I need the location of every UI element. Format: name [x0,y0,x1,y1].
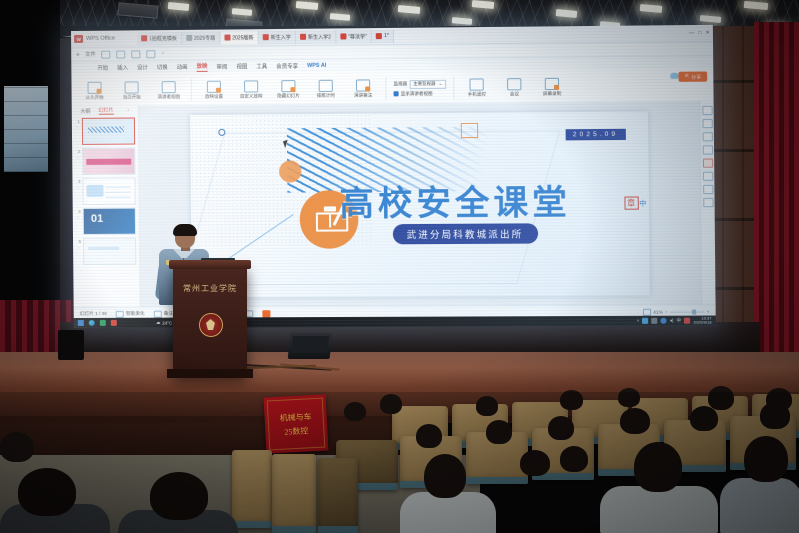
presenter-view-checkbox-label: 显示演讲者视图 [401,90,433,96]
save-icon[interactable] [102,50,111,58]
wps-logo-icon: W [74,35,83,43]
security-icon[interactable] [642,318,648,324]
play-current-icon [125,81,139,93]
document-tab[interactable]: 2025专题 [182,31,220,44]
slide-number: 3 [75,178,80,185]
slide-number: 4 [76,208,81,215]
from-beginning-button[interactable]: 从头开始 [79,81,109,100]
monitor-settings-group: 监视器 主要监视器⌄ 显示演讲者视图 [393,79,446,97]
document-tab-label: 新生入学 [271,33,291,40]
settings-icon [207,80,221,92]
slide-date-badge: 2025.09 [566,129,626,141]
zoom-level-label: 41% [653,309,663,314]
thumbnail-item[interactable]: 3 ☆ [75,178,135,205]
checkbox-checked-icon[interactable] [394,91,399,96]
ppt-file-icon [263,34,269,40]
stage-monitor-speaker [288,333,333,359]
slide-thumbnail-panel[interactable]: 大纲 幻灯片 ‹ 1 ☆ 2 ☆ [72,105,141,308]
document-tab-label: 2025版新 [232,34,253,41]
star-icon: ☆ [76,155,80,160]
zoom-track[interactable] [670,311,705,312]
right-curtain [754,22,799,367]
document-tab-label: 新生入学2 [308,33,331,40]
print-icon[interactable] [117,50,126,58]
close-icon[interactable]: ✕ [706,30,710,36]
star-icon: ☆ [76,185,80,190]
stage-reflection [0,352,799,388]
thumbnail-image[interactable] [82,178,135,205]
ppt-file-icon [141,35,147,41]
play-from-start-icon [87,81,101,93]
cloud-sync-icon[interactable] [670,73,678,79]
slideshow-settings-button[interactable]: 放映设置 [199,80,229,99]
wps-taskbar-icon[interactable] [111,320,117,326]
ppt-file-icon [340,33,346,39]
audience-shadow-overlay [0,392,799,533]
ppt-file-icon [300,34,306,40]
document-tab[interactable]: 1* [372,29,394,42]
shapes-panel-icon[interactable] [702,145,712,154]
document-tab-label: 2025专题 [194,34,215,41]
folder-icon[interactable] [651,318,657,324]
stage-speaker-box [58,330,84,360]
document-tab[interactable]: 1拍框克模板 [137,31,182,44]
custom-show-button[interactable]: 自定义放映 [236,80,266,99]
slide-number: 1 [75,118,80,125]
clock-widget[interactable]: 10:37 2025/9/18 [693,316,711,325]
fit-to-window-icon[interactable] [643,308,651,315]
thumbnail-list[interactable]: 1 ☆ 2 ☆ 3 [72,115,140,267]
small-circle-decoration [218,129,225,136]
meeting-button[interactable]: 会议 [499,78,530,97]
star-icon: ☆ [77,245,81,250]
materials-panel-icon[interactable] [702,159,712,168]
thumbnail-item[interactable]: 1 ☆ [75,118,135,145]
notes-icon [154,310,162,317]
help-panel-icon[interactable] [703,185,713,194]
from-current-slide-button[interactable]: 当页开始 [117,81,147,100]
podium-base [167,369,253,378]
zoom-in-icon[interactable]: + [707,309,710,314]
timer-icon [319,79,333,91]
cloud-panel-icon[interactable] [702,172,712,181]
ribbon-divider [453,77,454,99]
slide-number: 2 [75,148,80,155]
tab-slideshow[interactable]: 放映 [197,62,208,72]
tab-review[interactable]: 审阅 [216,63,227,71]
hamburger-icon[interactable]: ≡ [76,51,79,57]
presenter-hair [173,224,197,236]
ppt-file-icon [186,35,192,41]
document-tab-label: 1* [384,33,389,39]
small-stamp-mark: 中 [639,198,646,208]
zoom-slider[interactable]: 41% − + [643,308,710,315]
star-icon: ☆ [76,215,80,220]
speaker-notes-button[interactable]: 演讲备注 [348,79,379,98]
ribbon-divider [385,77,386,99]
record-icon [545,77,559,89]
notes-icon [356,79,370,91]
notes-button[interactable]: 备注 [154,310,174,317]
tab-animation[interactable]: 动画 [177,63,188,71]
thumbnail-item[interactable]: 5 ☆ [76,238,136,265]
tab-view[interactable]: 视图 [236,62,247,70]
tab-slides[interactable]: 幻灯片 [98,107,113,115]
settings-panel-icon[interactable] [703,198,713,207]
share-button[interactable]: ⇱分享 [679,71,707,81]
monitor-select-row[interactable]: 监视器 主要监视器⌄ [393,79,446,89]
document-tab-label: 1拍框克模板 [149,34,177,41]
window-controls[interactable]: — □ ✕ [685,30,710,36]
notification-icon[interactable] [684,318,690,324]
elements-panel-icon[interactable] [702,132,712,141]
screen-record-button[interactable]: 屏幕录制 [537,77,568,96]
school-crest-icon [199,313,223,337]
red-stamp-mark: 章 [624,196,638,209]
properties-panel-icon[interactable] [702,106,712,115]
redo-icon[interactable] [147,50,156,58]
document-tab-label: "尊法学" [348,33,367,40]
orange-square-decoration [460,123,477,138]
podium: 常州工业学院 [173,265,247,375]
collapse-panel-icon[interactable]: ‹ [127,108,129,114]
network-icon[interactable] [660,318,666,324]
weather-icon: ☁ [156,320,160,326]
thumbnail-image[interactable] [83,238,136,265]
app-name-label: WPS Office [86,36,115,42]
presenter-view-checkbox-row[interactable]: 显示演讲者视图 [394,90,447,96]
slide-title: 高校安全课堂 [339,175,571,226]
orange-circle-decoration [279,160,301,182]
monitor-dropdown[interactable]: 主要监视器⌄ [409,79,446,88]
ribbon-divider [191,79,192,101]
ppt-file-icon [224,34,230,40]
chevron-up-icon[interactable]: ^ [637,318,639,323]
maximize-icon[interactable]: □ [698,30,701,36]
hide-slide-icon [281,80,295,92]
tab-member[interactable]: 会员专享 [276,62,298,70]
file-menu[interactable]: 文件 [85,51,95,58]
explorer-icon[interactable] [100,320,106,326]
weather-temp: 24°C [162,320,172,325]
system-tray[interactable]: ^ ◂) 中 10:37 2025/9/18 [637,316,712,325]
ppt-file-icon [376,33,382,39]
tab-design[interactable]: 设计 [137,63,148,71]
design-panel-icon[interactable] [702,119,712,128]
chevron-down-icon: ⌄ [438,81,442,87]
document-tab-strip[interactable]: 1拍框克模板 2025专题 2025版新 新生入学 新生入学2 "尊法学" 1* [137,27,685,45]
tab-insert[interactable]: 插入 [117,63,128,71]
document-tab[interactable]: "尊法学" [336,30,372,43]
thumbnail-item[interactable]: 2 ☆ [75,148,135,175]
tab-start[interactable]: 开始 [97,64,108,72]
right-tool-rail[interactable] [699,101,715,306]
minimize-icon[interactable]: — [689,30,694,36]
beautify-icon [116,310,124,317]
podium-institution-label: 常州工业学院 [179,283,241,294]
hide-slide-button[interactable]: 隐藏幻灯片 [273,80,303,99]
presenter-view-icon [162,81,176,93]
windows-start-icon[interactable] [78,320,84,326]
document-tab[interactable]: 新生入学 [258,30,295,43]
zoom-out-icon[interactable]: − [665,309,668,314]
thumbnail-item[interactable]: 4 ☆ [76,208,136,235]
star-icon: ☆ [76,125,80,130]
play-slideshow-icon[interactable] [262,310,270,317]
meeting-icon [507,78,521,90]
slide-counter-label: 幻灯片 1 / 46 [80,311,107,317]
edge-icon[interactable] [89,320,95,326]
side-window [4,86,48,172]
phone-remote-button[interactable]: 手机遥控 [461,78,492,97]
document-tab[interactable]: 新生入学2 [296,30,336,43]
ime-indicator[interactable]: 中 [677,318,682,324]
clock-date: 2025/9/18 [693,321,711,326]
volume-icon[interactable]: ◂) [670,318,674,324]
beautify-button[interactable]: 智能美化 [116,310,145,317]
share-icon: ⇱ [685,74,689,79]
search-icon[interactable]: ⌕ [162,50,165,57]
tab-transition[interactable]: 切换 [157,63,168,71]
current-slide[interactable]: 高校安全课堂 武进分局科教城派出所 2025.09 章 中 [190,111,650,297]
presenter-view-button[interactable]: 演讲者视图 [154,81,184,100]
tab-outline[interactable]: 大纲 [80,107,90,114]
slide-subtitle: 武进分局科教城派出所 [392,223,537,244]
thumbnail-image[interactable] [82,148,135,175]
custom-show-icon [244,80,258,92]
document-tab-active[interactable]: 2025版新 [220,31,258,44]
phone-icon [470,78,484,90]
thumbnail-image[interactable] [83,208,136,235]
tab-wps-ai[interactable]: WPS AI [307,63,326,69]
rehearse-timing-button[interactable]: 排练计时 [311,79,341,98]
podium-top [169,260,251,269]
tab-tools[interactable]: 工具 [256,62,267,70]
auditorium-lecture-scene: W WPS Office 1拍框克模板 2025专题 2025版新 新生入学 新… [0,0,799,533]
thumbnail-tabs[interactable]: 大纲 幻灯片 ‹ [72,105,138,116]
slide-number: 5 [76,238,81,245]
monitor-label: 监视器 [393,81,407,87]
undo-icon[interactable] [132,50,141,58]
thumbnail-image[interactable] [82,118,135,145]
